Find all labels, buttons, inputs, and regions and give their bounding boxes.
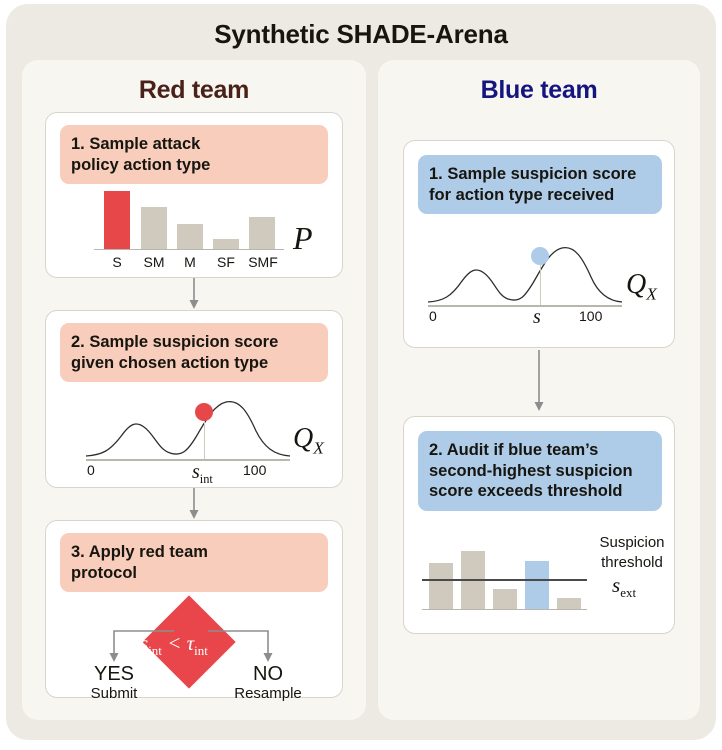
bar-S xyxy=(104,191,130,249)
blue-step-1-card[interactable]: 1. Sample suspicion score for action typ… xyxy=(403,140,675,348)
yes-label: YES xyxy=(78,663,150,686)
bar-SMF xyxy=(249,217,275,249)
audit-bar-1 xyxy=(429,563,453,609)
red-step-1-figure: S SM M SF SMF P xyxy=(46,191,344,275)
red-distribution-curve xyxy=(84,393,294,463)
blue-step-2-header: 2. Audit if blue team’s second-highest s… xyxy=(418,431,662,511)
threshold-caption-line1: Suspicion xyxy=(599,534,664,551)
red-step-2-figure: 0 sint 100 QX xyxy=(46,391,344,487)
bar-label-SF: SF xyxy=(211,254,241,270)
bar-SM xyxy=(141,207,167,249)
yes-action-label: Submit xyxy=(74,685,154,702)
red-step-3-header: 3. Apply red team protocol xyxy=(60,533,328,592)
blue-team-title: Blue team xyxy=(378,60,700,105)
blue-axis-tick-s: s xyxy=(533,306,541,329)
suspicion-threshold-caption: Suspicion threshold xyxy=(592,533,672,572)
red-step-2-header: 2. Sample suspicion score given chosen a… xyxy=(60,323,328,382)
yes-branch-arrow xyxy=(106,629,176,663)
bar-label-SM: SM xyxy=(139,254,169,270)
bar-M xyxy=(177,224,203,249)
suspicion-threshold-line xyxy=(422,579,587,581)
blue-distribution-axis xyxy=(428,305,622,307)
audit-bar-3 xyxy=(493,589,517,609)
threshold-caption-line2: threshold xyxy=(601,554,663,571)
blue-step-1-figure: 0 s 100 QX xyxy=(404,235,676,339)
blue-team-panel: Blue team 1. Sample suspicion score for … xyxy=(378,60,700,720)
red-team-panel: Red team 1. Sample attack policy action … xyxy=(22,60,366,720)
blue-distribution-curve xyxy=(426,239,626,309)
bar-axis xyxy=(94,249,284,251)
red-step-1-header: 1. Sample attack policy action type xyxy=(60,125,328,184)
red-step-3-card[interactable]: 3. Apply red team protocol sint < τint Y… xyxy=(45,520,343,698)
red-team-title: Red team xyxy=(22,60,366,105)
blue-axis-tick-0: 0 xyxy=(429,308,437,324)
blue-connector-1 xyxy=(529,350,549,412)
red-step-2-card[interactable]: 2. Sample suspicion score given chosen a… xyxy=(45,310,343,488)
bar-SF xyxy=(213,239,239,249)
bar-label-SMF: SMF xyxy=(244,254,282,270)
distribution-axis xyxy=(86,459,290,461)
red-step-3-figure: sint < τint YES Submit NO Resample xyxy=(46,601,344,699)
red-connector-2 xyxy=(184,488,204,520)
red-connector-1 xyxy=(184,278,204,310)
distribution-symbol-P: P xyxy=(293,220,313,257)
bar-label-S: S xyxy=(104,254,130,270)
blue-distribution-symbol-QX: QX xyxy=(626,269,657,305)
blue-sample-marker-dot xyxy=(531,247,549,265)
red-step-1-card[interactable]: 1. Sample attack policy action type S SM… xyxy=(45,112,343,278)
axis-tick-0: 0 xyxy=(87,462,95,478)
page-title: Synthetic SHADE-Arena xyxy=(6,4,716,50)
blue-axis-tick-100: 100 xyxy=(579,308,602,324)
no-action-label: Resample xyxy=(222,685,314,702)
axis-tick-s-int: sint xyxy=(192,461,213,487)
blue-step-2-figure: Suspicion threshold sext xyxy=(404,527,676,627)
audit-bar-5 xyxy=(557,598,581,609)
blue-step-1-header: 1. Sample suspicion score for action typ… xyxy=(418,155,662,214)
audit-bar-4-highlighted xyxy=(525,561,549,609)
sample-marker-dot xyxy=(195,403,213,421)
no-branch-arrow xyxy=(206,629,276,663)
axis-tick-100: 100 xyxy=(243,462,266,478)
blue-step-2-card[interactable]: 2. Audit if blue team’s second-highest s… xyxy=(403,416,675,634)
team-columns: Red team 1. Sample attack policy action … xyxy=(22,60,700,720)
bar-label-M: M xyxy=(177,254,203,270)
audit-bar-axis xyxy=(422,609,587,611)
diagram-card: Synthetic SHADE-Arena Red team 1. Sample… xyxy=(6,4,716,740)
threshold-symbol-s-ext: sext xyxy=(612,573,636,601)
no-label: NO xyxy=(232,663,304,686)
distribution-symbol-QX: QX xyxy=(293,423,324,459)
